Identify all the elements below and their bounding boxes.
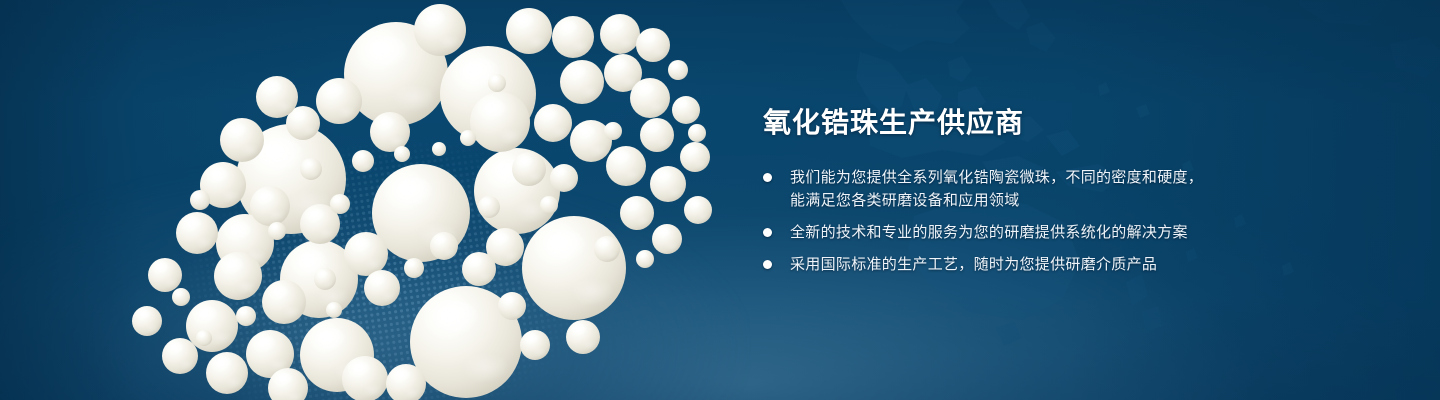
- list-item-line: 能满足您各类研磨设备和应用领域: [790, 189, 1233, 212]
- list-item-line: 全新的技术和专业的服务为您的研磨提供系统化的解决方案: [790, 221, 1233, 244]
- bullet-dot-icon: [763, 228, 772, 237]
- list-item: 全新的技术和专业的服务为您的研磨提供系统化的解决方案: [763, 221, 1233, 244]
- bullet-dot-icon: [763, 260, 772, 269]
- page-title: 氧化锆珠生产供应商: [763, 106, 1233, 140]
- feature-list: 我们能为您提供全系列氧化锆陶瓷微珠，不同的密度和硬度， 能满足您各类研磨设备和应…: [763, 166, 1233, 276]
- list-item-line: 我们能为您提供全系列氧化锆陶瓷微珠，不同的密度和硬度，: [790, 166, 1233, 189]
- zirconia-ceramic-beads-photo: [0, 0, 760, 400]
- list-item: 我们能为您提供全系列氧化锆陶瓷微珠，不同的密度和硬度， 能满足您各类研磨设备和应…: [763, 166, 1233, 212]
- banner-copy: 氧化锆珠生产供应商 我们能为您提供全系列氧化锆陶瓷微珠，不同的密度和硬度， 能满…: [763, 106, 1233, 276]
- list-item: 采用国际标准的生产工艺，随时为您提供研磨介质产品: [763, 253, 1233, 276]
- bullet-dot-icon: [763, 173, 772, 182]
- hero-banner: 氧化锆珠生产供应商 我们能为您提供全系列氧化锆陶瓷微珠，不同的密度和硬度， 能满…: [0, 0, 1440, 400]
- list-item-line: 采用国际标准的生产工艺，随时为您提供研磨介质产品: [790, 253, 1233, 276]
